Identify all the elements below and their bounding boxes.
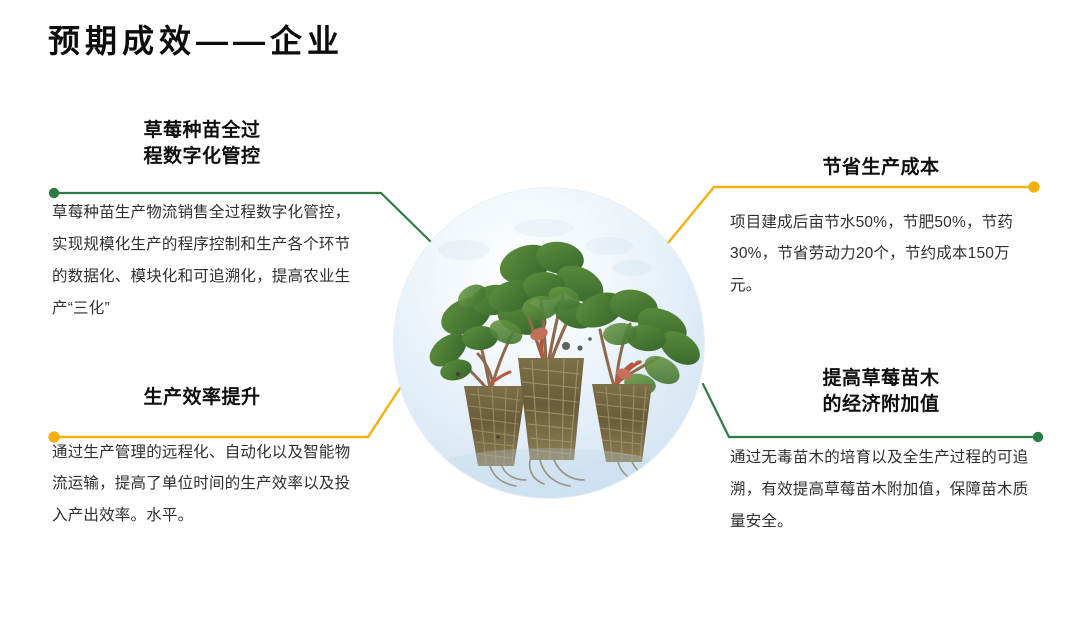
card-bottom-left-heading: 生产效率提升 [52, 385, 352, 411]
connector-dot-bottom-right [1033, 432, 1043, 442]
slide-root: 预期成效——企业 [0, 0, 1080, 624]
card-top-right: 节省生产成本 项目建成后亩节水50%，节肥50%，节药30%，节省劳动力20个，… [730, 155, 1032, 302]
page-title: 预期成效——企业 [48, 22, 344, 60]
card-bottom-right-heading: 提高草莓苗木 的经济附加值 [730, 366, 1032, 417]
card-bottom-left-body: 通过生产管理的远程化、自动化以及智能物流运输，提高了单位时间的生产效率以及投入产… [52, 437, 352, 532]
strawberry-seedlings-image [394, 188, 704, 498]
card-top-left-heading: 草莓种苗全过 程数字化管控 [52, 118, 352, 169]
card-bottom-left: 生产效率提升 通过生产管理的远程化、自动化以及智能物流运输，提高了单位时间的生产… [52, 385, 352, 532]
card-bottom-right: 提高草莓苗木 的经济附加值 通过无毒苗木的培育以及全生产过程的可追溯，有效提高草… [730, 366, 1032, 538]
card-top-left-body: 草莓种苗生产物流销售全过程数字化管控，实现规模化生产的程序控制和生产各个环节的数… [52, 197, 352, 324]
center-photo-circle [394, 188, 704, 498]
card-top-right-heading: 节省生产成本 [730, 155, 1032, 181]
card-bottom-right-body: 通过无毒苗木的培育以及全生产过程的可追溯，有效提高草莓苗木附加值，保障苗木质量安… [730, 442, 1032, 537]
card-top-right-body: 项目建成后亩节水50%，节肥50%，节药30%，节省劳动力20个，节约成本150… [730, 207, 1032, 302]
card-top-left: 草莓种苗全过 程数字化管控 草莓种苗生产物流销售全过程数字化管控，实现规模化生产… [52, 118, 352, 324]
